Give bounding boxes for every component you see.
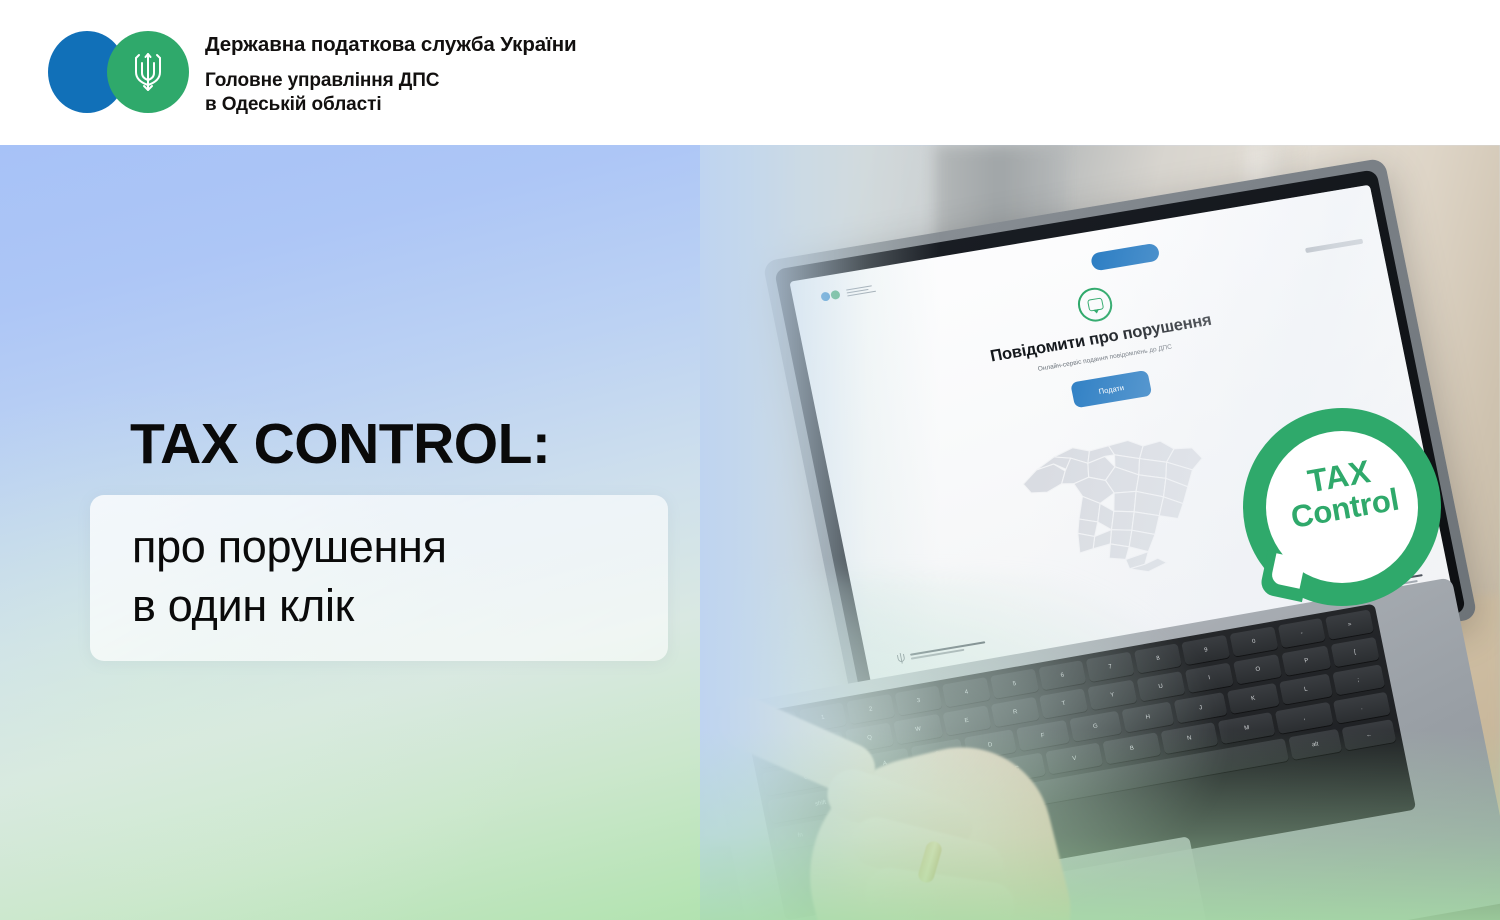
subtitle-box: про порушення в один клік bbox=[90, 495, 668, 661]
subtitle-text: про порушення в один клік bbox=[132, 517, 447, 636]
key: 0 bbox=[1230, 626, 1279, 656]
key: K bbox=[1227, 683, 1280, 714]
key: ; bbox=[1332, 664, 1385, 695]
subtitle-line-2: в один клік bbox=[132, 580, 354, 631]
organization-subtitle: Головне управління ДПС в Одеській област… bbox=[205, 69, 577, 117]
org-sub-line-1: Головне управління ДПС bbox=[205, 70, 439, 91]
key: P bbox=[1282, 645, 1331, 675]
logo-green-circle bbox=[107, 31, 189, 113]
organization-title: Державна податкова служба України bbox=[205, 32, 577, 58]
dps-logo[interactable] bbox=[48, 31, 208, 113]
trident-icon bbox=[131, 50, 165, 94]
key: = bbox=[1325, 609, 1374, 639]
key: L bbox=[1279, 674, 1332, 705]
subtitle-line-1: про порушення bbox=[132, 521, 447, 572]
photo-fade-bottom bbox=[700, 730, 1500, 920]
key: [ bbox=[1330, 637, 1379, 667]
key: O bbox=[1233, 654, 1282, 684]
org-sub-line-2: в Одеській області bbox=[205, 94, 382, 115]
tax-control-badge[interactable]: TAX Control bbox=[1243, 408, 1441, 606]
banner-root: Повідомити про порушення Онлайн-сервіс п… bbox=[0, 0, 1500, 920]
site-header: Державна податкова служба України Головн… bbox=[0, 0, 1500, 145]
header-text-block: Державна податкова служба України Головн… bbox=[205, 32, 577, 117]
key: - bbox=[1277, 618, 1326, 648]
key: . bbox=[1333, 692, 1391, 724]
page-title: TAX CONTROL: bbox=[130, 416, 550, 473]
